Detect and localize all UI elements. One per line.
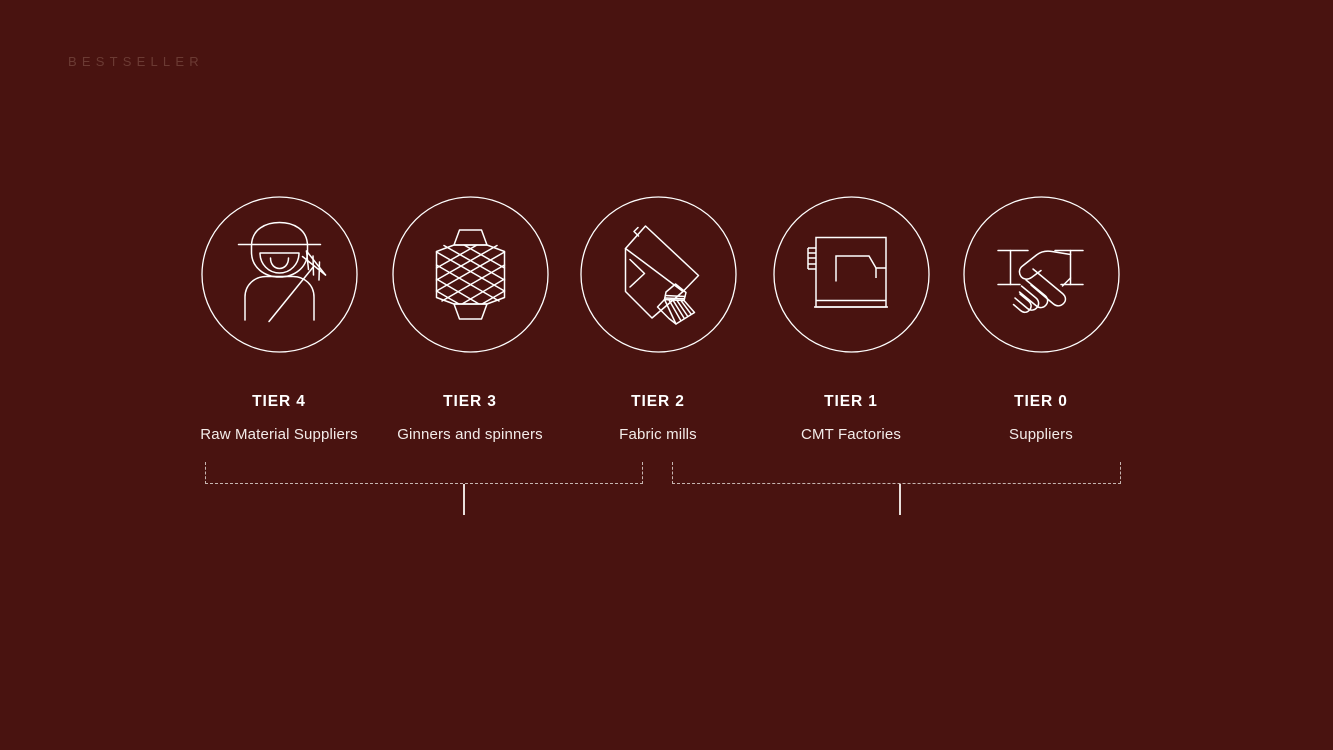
bracket-left-drop-line [463, 484, 465, 515]
handshake-icon [998, 251, 1083, 313]
tier-title: TIER 4 [179, 394, 379, 410]
tier-title: TIER 2 [558, 394, 758, 410]
tier-row: TIER 4 Raw Material Suppliers [0, 196, 1333, 476]
tier-icon-circle-0 [963, 196, 1120, 353]
tier-icon-circle-4 [201, 196, 358, 353]
yarn-spool-icon [436, 230, 504, 319]
tier-description: Suppliers [941, 425, 1141, 445]
tier-description: Raw Material Suppliers [179, 425, 379, 445]
tier-item-2[interactable]: TIER 2 Fabric mills [558, 196, 758, 445]
tier-title: TIER 1 [751, 394, 951, 410]
tier-item-4[interactable]: TIER 4 Raw Material Suppliers [179, 196, 379, 445]
tier-icon-circle-1 [773, 196, 930, 353]
tier-description: Fabric mills [558, 425, 758, 445]
tier-icon-circle-3 [392, 196, 549, 353]
tier-description: Ginners and spinners [370, 425, 570, 445]
bracket-right-drop-line [899, 484, 901, 515]
bestseller-logo: BESTSELLER [68, 54, 204, 69]
tier-item-3[interactable]: TIER 3 Ginners and spinners [370, 196, 570, 445]
tier-description: CMT Factories [751, 425, 951, 445]
tier-item-0[interactable]: TIER 0 Suppliers [941, 196, 1141, 445]
bracket-right [672, 462, 1121, 484]
bracket-left [205, 462, 643, 484]
sewing-machine-icon [808, 238, 888, 308]
tier-item-1[interactable]: TIER 1 CMT Factories [751, 196, 951, 445]
slide-canvas: BESTSELLER [0, 0, 1333, 750]
tier-title: TIER 0 [941, 394, 1141, 410]
tier-title: TIER 3 [370, 394, 570, 410]
farmer-icon [238, 223, 325, 322]
fabric-roll-icon [625, 226, 698, 324]
tier-icon-circle-2 [580, 196, 737, 353]
